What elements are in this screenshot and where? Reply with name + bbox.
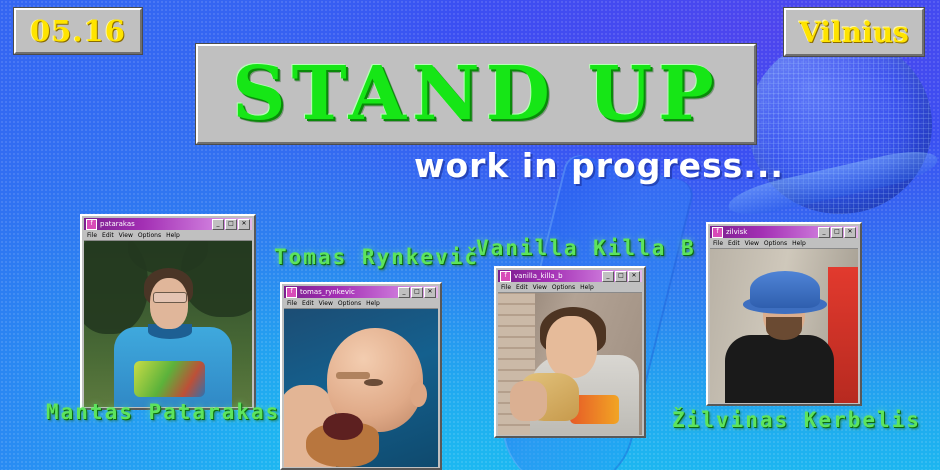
maximize-button[interactable]: □ [831,227,843,238]
photo-window-vanilla[interactable]: f vanilla_killa_b _ □ ✕ File Edit View O… [494,266,646,438]
city-badge-label: Vilnius [799,16,909,49]
menu-item-options[interactable]: Options [338,300,361,307]
photo-window-zilvinas[interactable]: f zilvisk _ □ ✕ File Edit View Options H… [706,222,862,406]
menu-item-file[interactable]: File [287,300,297,307]
minimize-button[interactable]: _ [398,287,410,298]
menu-item-options[interactable]: Options [552,284,575,291]
close-button[interactable]: ✕ [628,271,640,282]
window-title-bar[interactable]: f vanilla_killa_b _ □ ✕ [498,270,642,282]
page-title: STAND UP [232,57,720,131]
minimize-button[interactable]: _ [212,219,224,230]
window-app-icon: f [712,227,723,238]
window-app-icon: f [500,271,511,282]
window-title-label: tomas_rynkevic [300,288,395,296]
photo-window-mantas[interactable]: f patarakas _ □ ✕ File Edit View Options… [80,214,256,410]
window-title-bar[interactable]: f zilvisk _ □ ✕ [710,226,858,238]
window-menu-bar[interactable]: File Edit View Options Help [284,298,438,309]
maximize-button[interactable]: □ [225,219,237,230]
window-title-label: zilvisk [726,228,815,236]
menu-item-edit[interactable]: Edit [102,232,114,239]
main-title-plate: STAND UP [196,44,756,144]
menu-item-edit[interactable]: Edit [516,284,528,291]
menu-item-edit[interactable]: Edit [728,240,740,247]
menu-item-file[interactable]: File [713,240,723,247]
menu-item-view[interactable]: View [533,284,547,291]
photo-mantas [84,241,252,407]
maximize-button[interactable]: □ [615,271,627,282]
minimize-button[interactable]: _ [818,227,830,238]
menu-item-help[interactable]: Help [166,232,180,239]
photo-tomas [284,309,438,467]
window-menu-bar[interactable]: File Edit View Options Help [498,282,642,293]
city-badge: Vilnius [784,8,924,56]
performer-name-zilvinas: Žilvinas Kerbelis [672,408,921,432]
window-controls[interactable]: _ □ ✕ [602,271,640,282]
close-button[interactable]: ✕ [424,287,436,298]
poster-canvas: 05.16 Vilnius STAND UP work in progress.… [0,0,940,470]
window-controls[interactable]: _ □ ✕ [398,287,436,298]
close-button[interactable]: ✕ [844,227,856,238]
photo-vanilla [498,293,642,435]
menu-item-edit[interactable]: Edit [302,300,314,307]
date-badge-label: 05.16 [30,14,126,48]
window-menu-bar[interactable]: File Edit View Options Help [84,230,252,241]
close-button[interactable]: ✕ [238,219,250,230]
photo-zilvinas [710,249,858,403]
menu-item-view[interactable]: View [745,240,759,247]
menu-item-view[interactable]: View [119,232,133,239]
menu-item-file[interactable]: File [87,232,97,239]
window-title-label: vanilla_killa_b [514,272,599,280]
window-title-bar[interactable]: f tomas_rynkevic _ □ ✕ [284,286,438,298]
menu-item-help[interactable]: Help [580,284,594,291]
window-app-icon: f [86,219,97,230]
performer-name-mantas: Mantas Patarakas [46,400,280,424]
performer-name-tomas: Tomas Rynkevič [274,245,479,269]
maximize-button[interactable]: □ [411,287,423,298]
date-badge: 05.16 [14,8,142,54]
window-title-bar[interactable]: f patarakas _ □ ✕ [84,218,252,230]
subtitle: work in progress... [414,146,784,185]
photo-window-tomas[interactable]: f tomas_rynkevic _ □ ✕ File Edit View Op… [280,282,442,470]
menu-item-options[interactable]: Options [138,232,161,239]
window-controls[interactable]: _ □ ✕ [212,219,250,230]
window-controls[interactable]: _ □ ✕ [818,227,856,238]
performer-name-vanilla: Vanilla Killa B [476,236,696,260]
window-app-icon: f [286,287,297,298]
minimize-button[interactable]: _ [602,271,614,282]
menu-item-view[interactable]: View [319,300,333,307]
menu-item-help[interactable]: Help [366,300,380,307]
window-title-label: patarakas [100,220,209,228]
window-menu-bar[interactable]: File Edit View Options Help [710,238,858,249]
menu-item-help[interactable]: Help [792,240,806,247]
menu-item-file[interactable]: File [501,284,511,291]
menu-item-options[interactable]: Options [764,240,787,247]
